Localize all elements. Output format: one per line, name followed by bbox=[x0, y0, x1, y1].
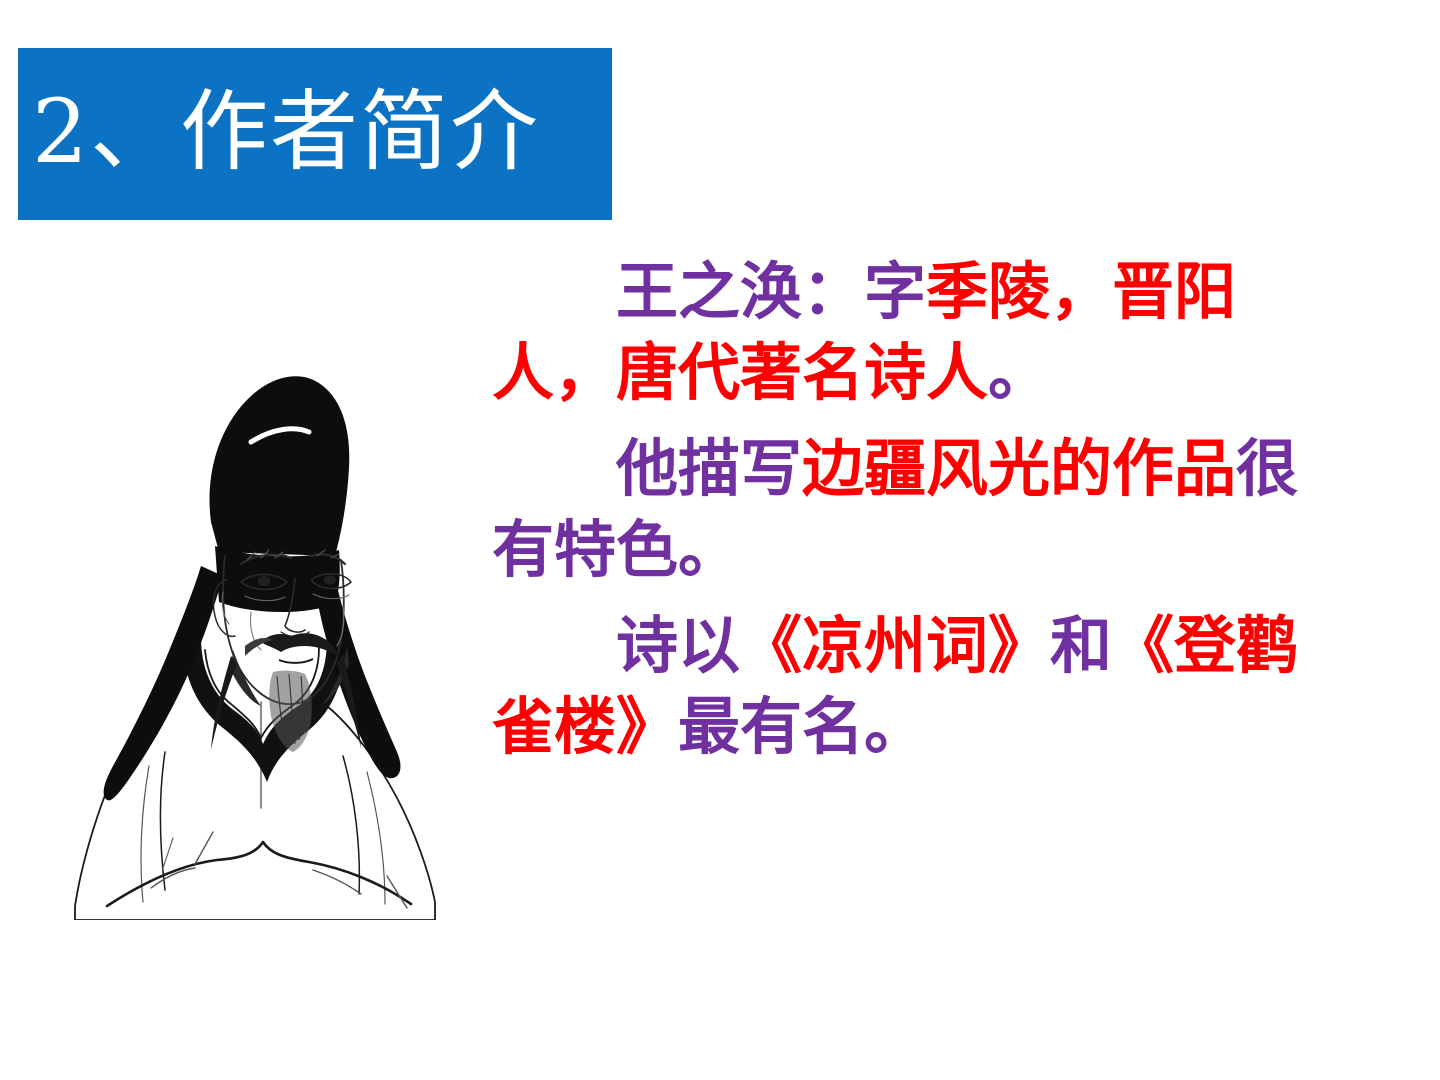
paragraph-bio-works: 诗以《凉州词》和《登鹳雀楼》最有名。 bbox=[492, 606, 1322, 767]
text-segment-purple: 。 bbox=[988, 336, 1050, 409]
text-segment-purple: 诗以 bbox=[616, 609, 740, 682]
paragraph-bio-style: 他描写边疆风光的作品很有特色。 bbox=[492, 429, 1322, 590]
title-banner: 2、作者简介 bbox=[18, 48, 612, 220]
poet-portrait-illustration bbox=[55, 320, 455, 920]
text-segment-red: 边疆风光的作品 bbox=[802, 432, 1236, 505]
text-segment-purple: 他描写 bbox=[616, 432, 802, 505]
page-title: 2、作者简介 bbox=[32, 88, 540, 176]
text-segment-purple: 和 bbox=[1050, 609, 1112, 682]
text-segment-purple: 最有名。 bbox=[678, 690, 926, 763]
text-segment-red: 《凉州词》 bbox=[740, 609, 1050, 682]
slide-canvas: 2、作者简介 bbox=[0, 0, 1440, 1080]
biography-text-block: 王之涣：字季陵，晋阳人，唐代著名诗人。 他描写边疆风光的作品很有特色。 诗以《凉… bbox=[492, 252, 1322, 768]
text-segment-purple: 王之涣：字 bbox=[616, 255, 926, 328]
paragraph-bio-name: 王之涣：字季陵，晋阳人，唐代著名诗人。 bbox=[492, 252, 1322, 413]
poet-portrait-figure bbox=[55, 320, 455, 920]
